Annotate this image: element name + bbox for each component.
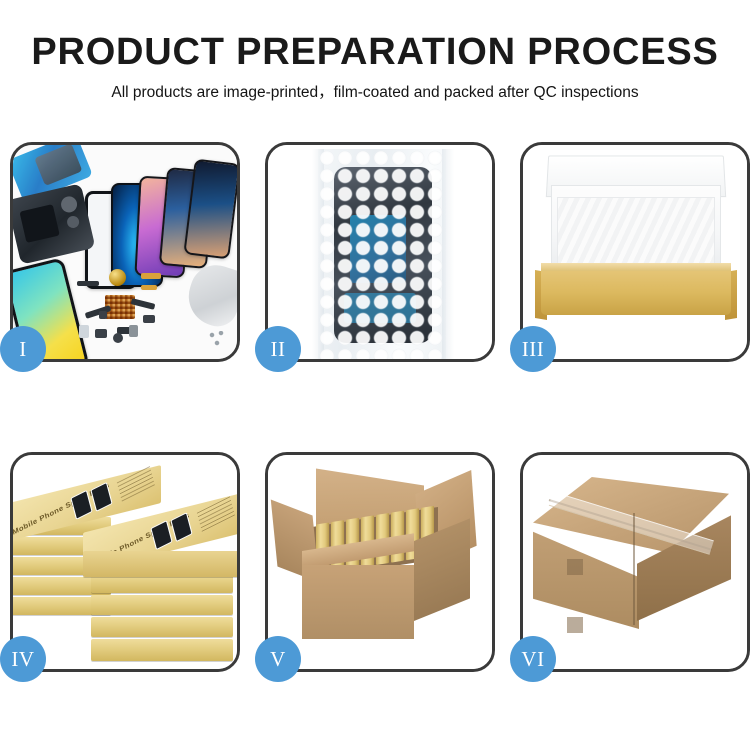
step-card-6: VI xyxy=(520,452,750,672)
flex-cable-image xyxy=(141,273,161,279)
step-card-2: II xyxy=(265,142,495,362)
stacked-box xyxy=(91,639,233,661)
step-image-3 xyxy=(523,145,747,359)
step-card-3: III xyxy=(520,142,750,362)
carton-corner-edge xyxy=(633,513,635,625)
flex-cable-image xyxy=(77,281,99,286)
small-part-image xyxy=(95,329,107,338)
phone-logic-board-image xyxy=(13,183,95,264)
carton-label-mark xyxy=(567,617,583,633)
box-stack-image: Mobile Phone Spare Parts Mobile Phone Sp… xyxy=(13,455,237,669)
small-part-image xyxy=(79,325,89,338)
box-tray-lip xyxy=(541,263,731,271)
carton-label-mark xyxy=(567,559,583,575)
step-card-4: Mobile Phone Spare Parts Mobile Phone Sp… xyxy=(10,452,240,672)
step-badge-2: II xyxy=(255,326,301,372)
screws-image xyxy=(209,331,229,347)
flex-cable-image xyxy=(141,285,157,290)
box-lid-checklist xyxy=(197,496,235,532)
foam-sheet-image xyxy=(557,197,715,265)
box-lid-checklist xyxy=(117,466,155,502)
step-image-2 xyxy=(268,145,492,359)
step-badge-3: III xyxy=(510,326,556,372)
small-part-image xyxy=(129,325,138,337)
carton-front-face xyxy=(302,565,414,639)
step-image-1 xyxy=(13,145,237,359)
stacked-box xyxy=(91,595,233,615)
page-title: PRODUCT PREPARATION PROCESS xyxy=(0,30,750,74)
small-part-image xyxy=(143,315,155,323)
page-header: PRODUCT PREPARATION PROCESS All products… xyxy=(0,0,750,130)
step-image-4: Mobile Phone Spare Parts Mobile Phone Sp… xyxy=(13,455,237,669)
step-card-1: I xyxy=(10,142,240,362)
bubble-highlights-image xyxy=(318,149,446,359)
small-part-image xyxy=(113,333,123,343)
repair-tool-image xyxy=(181,258,237,331)
speaker-coil-image xyxy=(109,269,126,286)
page-subtitle: All products are image-printed，film-coat… xyxy=(0,82,750,104)
step-badge-5: V xyxy=(255,636,301,682)
step-badge-6: VI xyxy=(510,636,556,682)
kraft-box-tray-image xyxy=(541,265,731,315)
step-image-6 xyxy=(523,455,747,669)
step-image-5 xyxy=(268,455,492,669)
stacked-box xyxy=(83,551,237,577)
step-badge-1: I xyxy=(0,326,46,372)
step-badge-4: IV xyxy=(0,636,46,682)
stacked-box xyxy=(91,617,233,637)
step-card-5: V xyxy=(265,452,495,672)
small-part-image xyxy=(99,311,107,319)
